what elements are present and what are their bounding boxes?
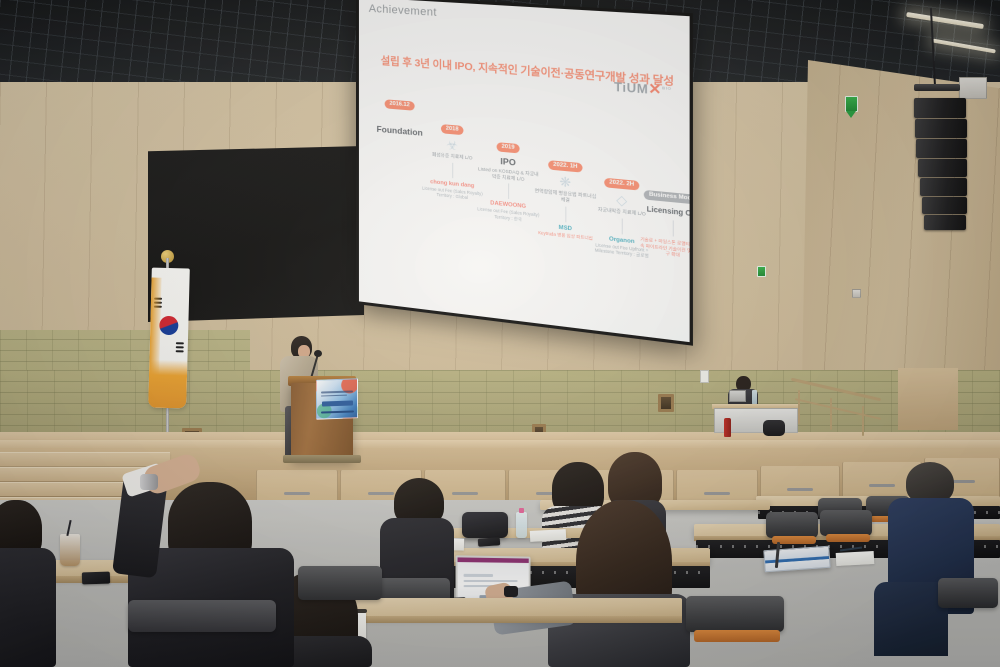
- slide-headline: 설립 후 3년 이내 IPO, 지속적인 기술이전·공동연구개발 성과 달성: [379, 55, 676, 89]
- operator-laptop: [729, 390, 746, 402]
- wristwatch: [140, 474, 158, 490]
- timeline-connector: [565, 206, 566, 222]
- line-array-speaker: [914, 98, 972, 228]
- timeline-badge: 2022. 2H: [604, 177, 640, 190]
- smartphone: [82, 572, 110, 585]
- timeline-badge: 2019: [496, 142, 520, 153]
- timeline-connector: [621, 218, 622, 234]
- timeline-badge: 2018: [441, 124, 464, 135]
- blue-binder: [763, 546, 830, 573]
- smartphone: [478, 537, 501, 547]
- conference-hall-photo: Achievement TiUM✕BIO 설립 후 3년 이내 IPO, 지속적…: [0, 0, 1000, 667]
- timeline-item: Business Model Licensing Out 기술료 + 마일스톤 …: [638, 181, 689, 261]
- timeline-connector: [452, 163, 453, 178]
- water-bottle: [516, 512, 527, 538]
- list-item: [0, 548, 56, 667]
- podium-banner: [316, 378, 358, 419]
- stage-railing: [790, 382, 882, 438]
- timeline-badge: 2022. 1H: [548, 160, 583, 173]
- south-korean-flag: [148, 268, 190, 409]
- wall-notice: [700, 370, 709, 383]
- notebook: [530, 529, 567, 542]
- timeline-item: 2018 ☣ 폐섬유증 치료제 L/O chong kun dang Licen…: [421, 114, 484, 202]
- flag-fringe: [148, 359, 187, 408]
- chair-seat[interactable]: [826, 534, 870, 542]
- emergency-exit-sign: [845, 96, 858, 112]
- wall-outlet: [852, 289, 861, 298]
- emergency-exit-sign: [757, 266, 766, 277]
- timeline-title: Licensing Out: [638, 205, 689, 220]
- black-bag: [462, 512, 508, 538]
- table-edge: [350, 616, 682, 623]
- list-item[interactable]: [298, 566, 382, 600]
- wall-vent: [959, 77, 987, 99]
- stage-stairs-right: [898, 368, 958, 430]
- list-item[interactable]: [686, 596, 784, 632]
- list-item[interactable]: [128, 600, 276, 632]
- list-item[interactable]: [820, 510, 872, 536]
- list-item[interactable]: [766, 512, 818, 538]
- podium-base: [283, 455, 361, 463]
- timeline-connector: [508, 184, 509, 200]
- wall-access-door: [658, 394, 674, 412]
- timeline-badge: Business Model: [643, 189, 689, 204]
- list-item[interactable]: [938, 578, 998, 608]
- slide-header: Achievement: [369, 3, 437, 19]
- equipment-bag: [763, 420, 785, 436]
- speaker-rigging-bar: [914, 84, 960, 91]
- presentation-slide: Achievement TiUM✕BIO 설립 후 3년 이내 IPO, 지속적…: [359, 0, 690, 342]
- draped-jacket: [874, 582, 948, 656]
- iced-coffee-cup: [60, 534, 80, 566]
- wristwatch: [504, 586, 518, 597]
- microphone-icon: [314, 350, 322, 357]
- fire-extinguisher: [724, 418, 731, 437]
- achievement-timeline: 2016.12 Foundation 2018 ☣ 폐섬유증 치료제 L/O c…: [365, 90, 683, 329]
- taeguk-symbol: [159, 316, 178, 335]
- timeline-connector: [672, 220, 673, 236]
- timeline-badge: 2016.12: [385, 99, 415, 111]
- projection-screen: Achievement TiUM✕BIO 설립 후 3년 이내 IPO, 지속적…: [356, 0, 693, 346]
- water-bottle: [752, 390, 757, 405]
- timeline-item: 2019 IPO Listed on KOSDAQ & 자궁내막증 치료제 L/…: [476, 132, 541, 224]
- documents: [836, 551, 875, 566]
- chair-seat[interactable]: [694, 630, 780, 642]
- table-row: [350, 598, 682, 618]
